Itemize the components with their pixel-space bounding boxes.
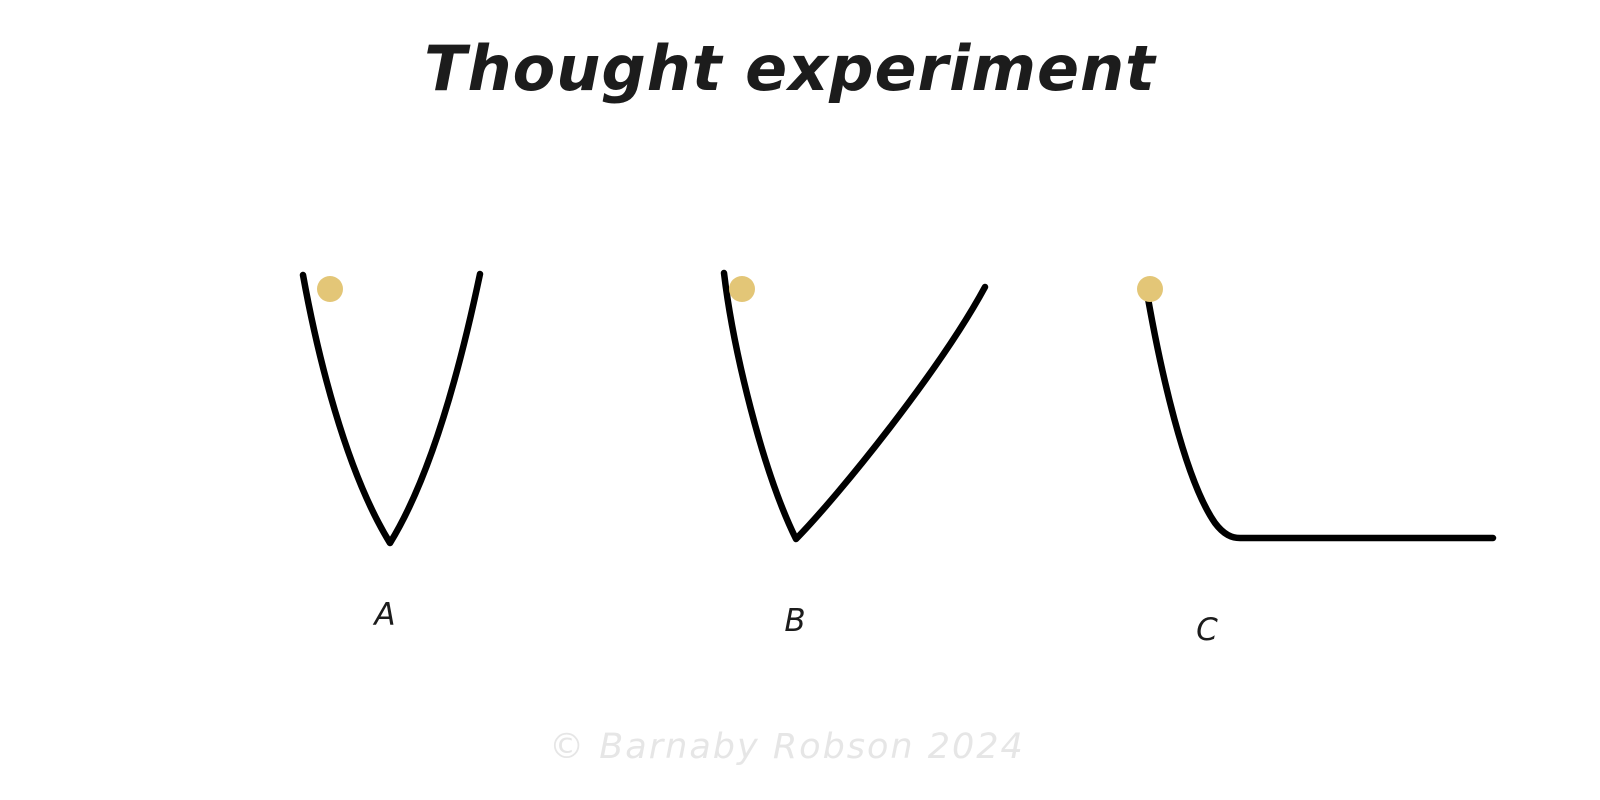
diagram-canvas: Thought experiment A B C © Barnaby Robso… [0,0,1600,800]
curve-label-a: A [372,597,395,633]
curve-label-c: C [1196,612,1218,648]
canvas-background [0,0,1600,800]
page-title: Thought experiment [424,32,1157,105]
ball-b [729,276,755,302]
watermark: © Barnaby Robson 2024 [549,727,1025,767]
ball-a [317,276,343,302]
ball-c [1137,276,1163,302]
curve-label-b: B [784,603,805,639]
